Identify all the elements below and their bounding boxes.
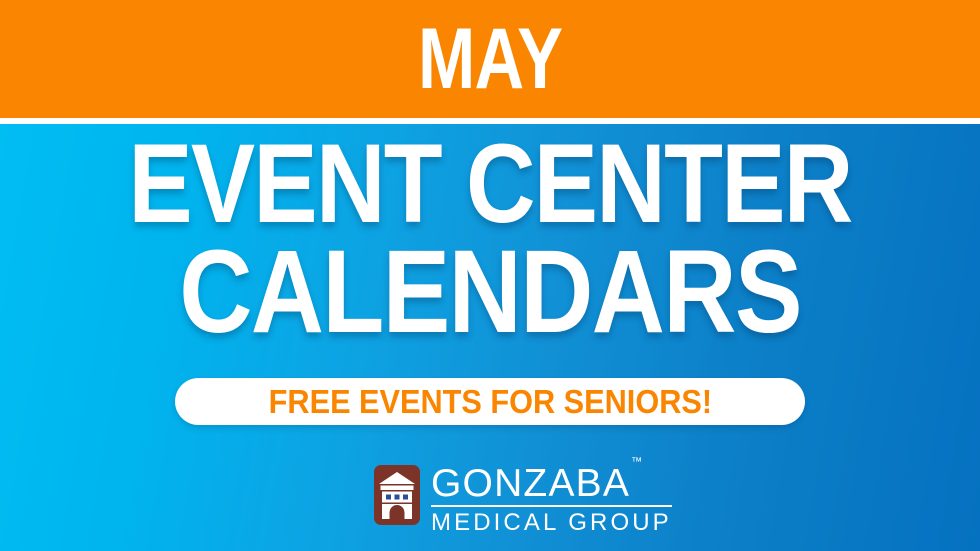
logo-subtitle: MEDICAL GROUP — [431, 510, 672, 535]
gonzaba-logo: GONZABA™ MEDICAL GROUP — [374, 465, 672, 535]
headline-line-1: EVENT CENTER — [69, 132, 912, 236]
event-center-calendar-banner: MAY EVENT CENTER CALENDARS FREE EVENTS F… — [0, 0, 980, 551]
gonzaba-building-icon — [374, 465, 420, 525]
logo-wordmark: GONZABA™ MEDICAL GROUP — [431, 465, 672, 535]
logo-name: GONZABA™ — [431, 465, 672, 502]
main-panel: EVENT CENTER CALENDARS FREE EVENTS FOR S… — [0, 124, 980, 551]
month-label: MAY — [418, 16, 562, 102]
free-events-badge: FREE EVENTS FOR SENIORS! — [175, 378, 805, 425]
badge-label: FREE EVENTS FOR SENIORS! — [268, 385, 711, 418]
headline-line-2: CALENDARS — [69, 236, 912, 348]
headline-block: EVENT CENTER CALENDARS — [0, 132, 980, 348]
trademark-icon: ™ — [631, 456, 642, 468]
month-band: MAY — [0, 0, 980, 118]
logo-name-text: GONZABA — [431, 462, 630, 505]
logo-divider — [431, 505, 672, 507]
